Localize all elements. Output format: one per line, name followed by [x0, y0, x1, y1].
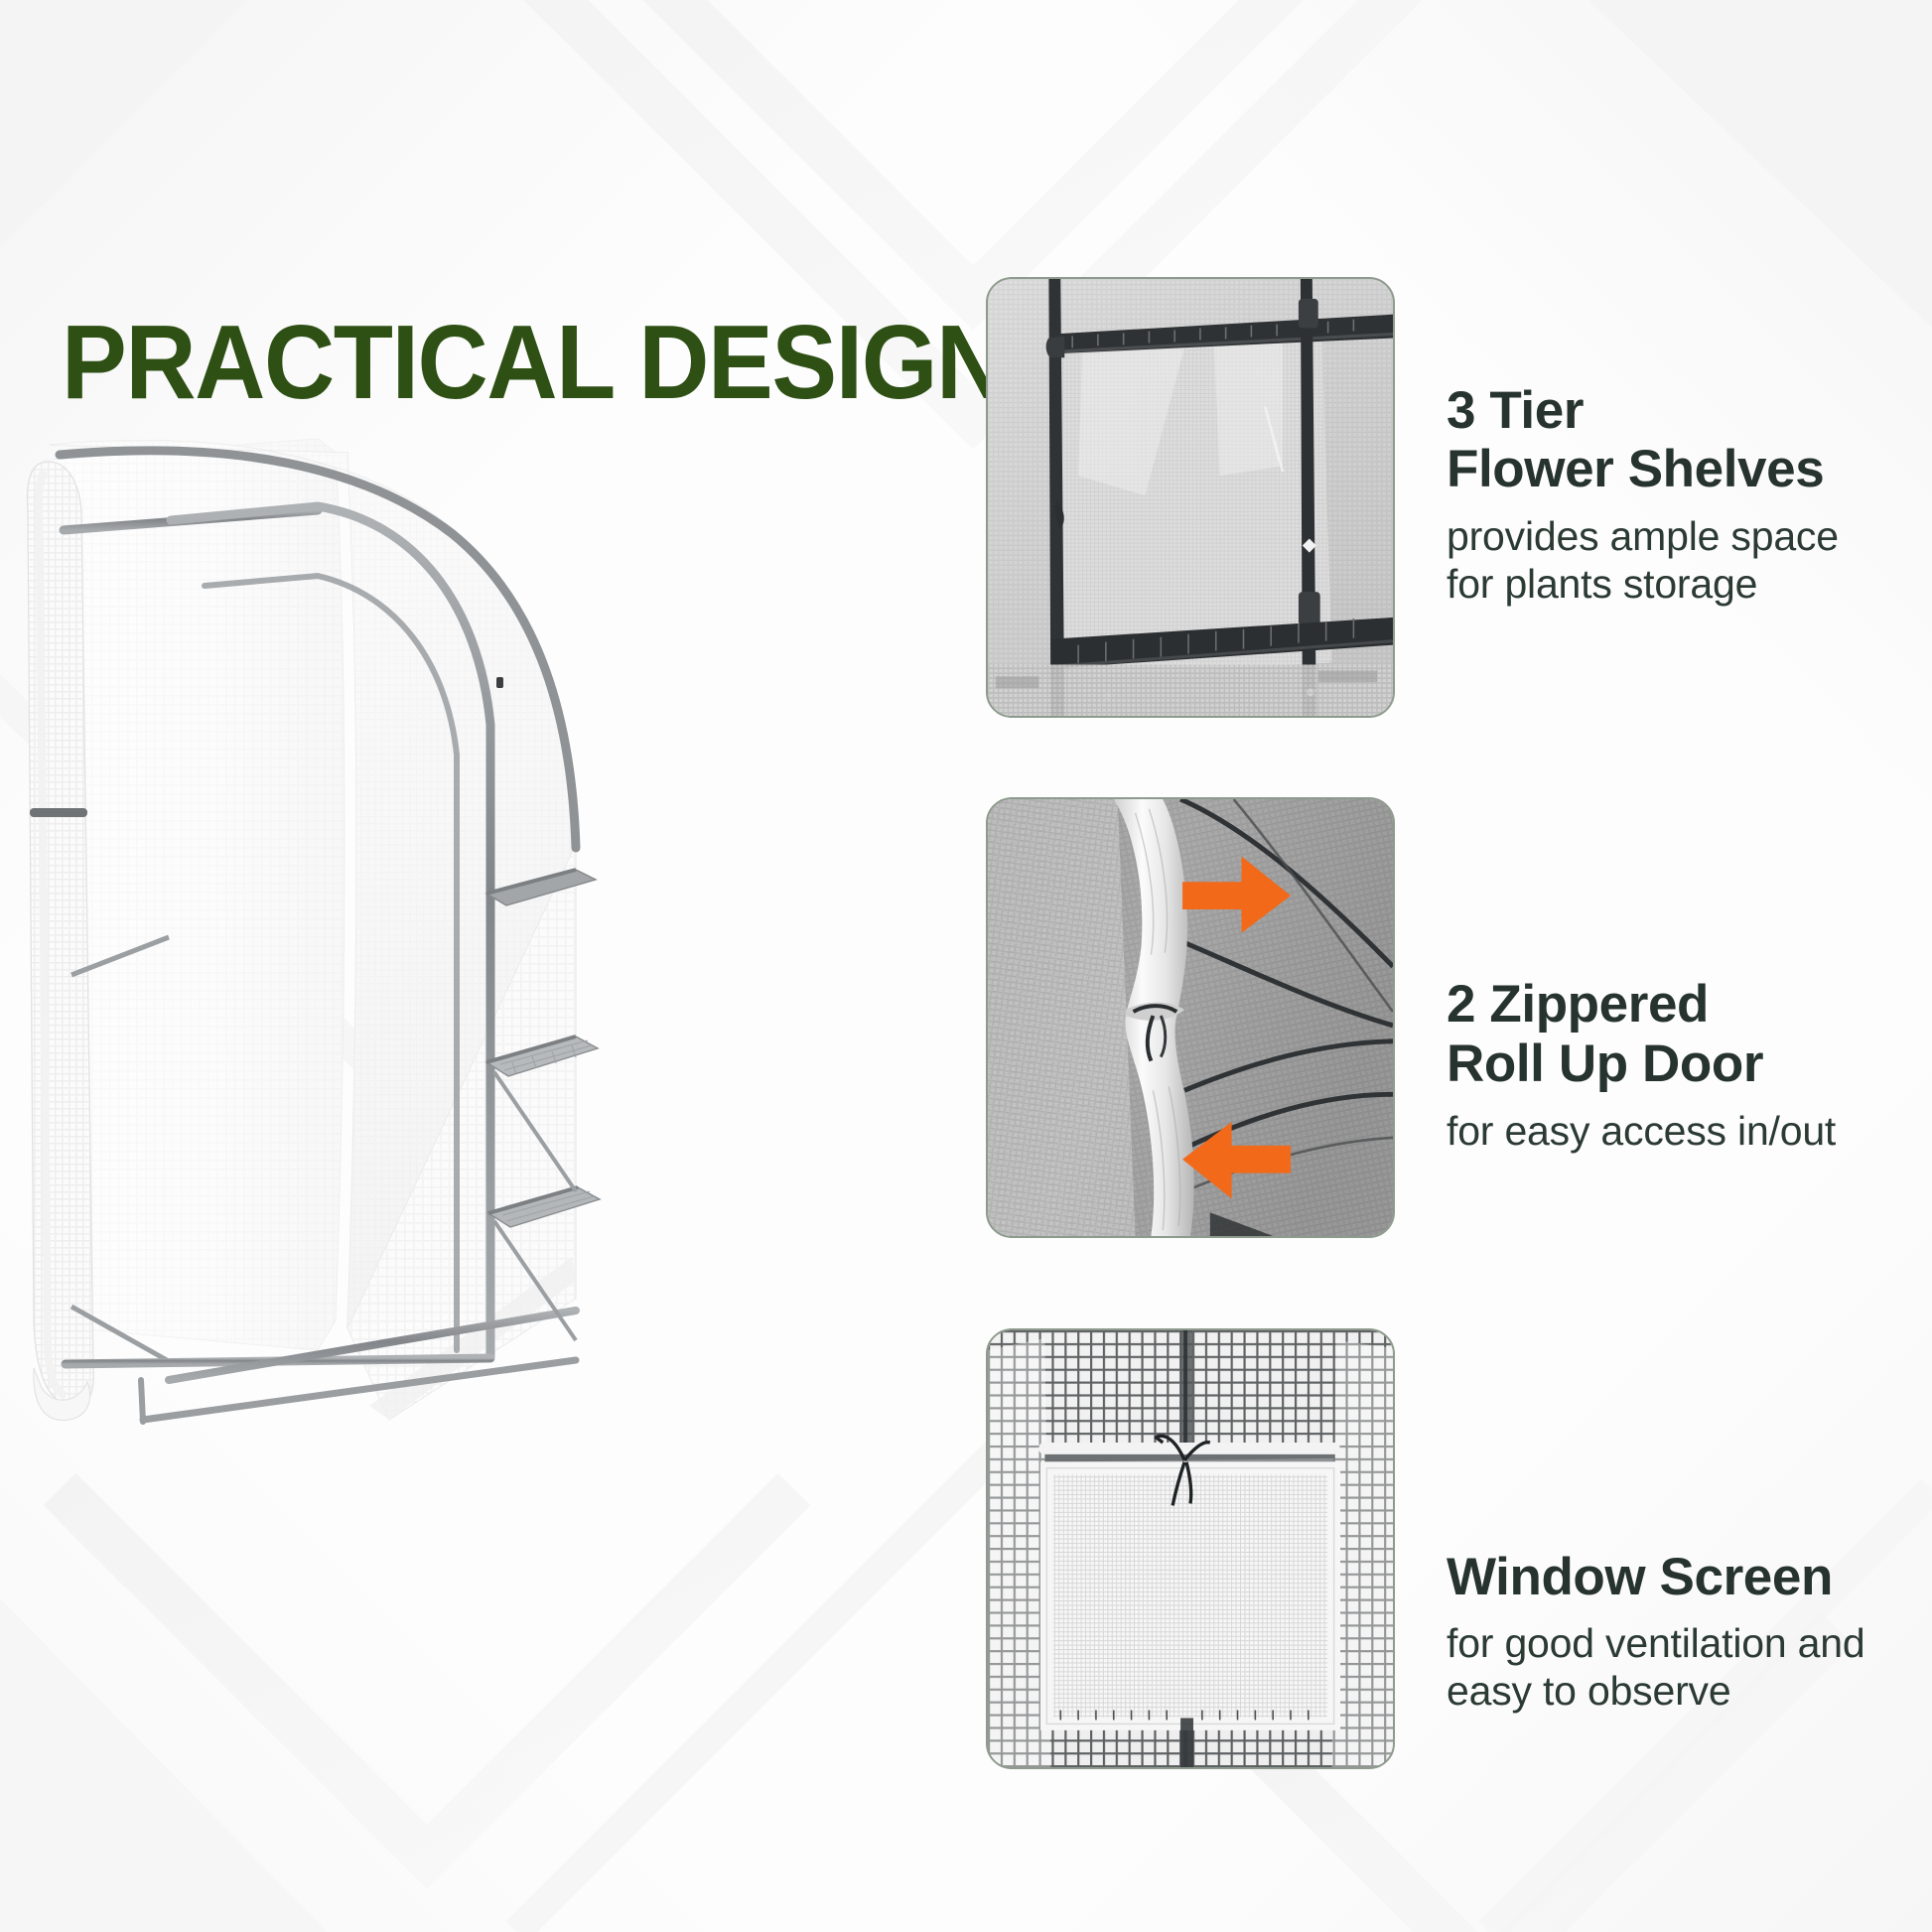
feature-subtitle-window-screen: for good ventilation and easy to observe — [1447, 1620, 1909, 1715]
feature-block-flower-shelves: 3 Tier Flower Shelves provides ample spa… — [986, 277, 1909, 718]
photo-window-screen-image — [988, 1330, 1393, 1767]
feature-title-roll-up-door: 2 Zippered Roll Up Door — [1447, 975, 1909, 1094]
photo-flower-shelves — [986, 277, 1395, 718]
photo-roll-up-door — [986, 797, 1395, 1238]
infographic-page: PRACTICAL DESIGN — [0, 0, 1932, 1932]
photo-flower-shelves-image — [988, 279, 1393, 716]
feature-block-roll-up-door: 2 Zippered Roll Up Door for easy access … — [986, 797, 1909, 1238]
feature-subtitle-roll-up-door: for easy access in/out — [1447, 1108, 1909, 1156]
photo-roll-up-door-image — [988, 799, 1393, 1236]
feature-text-roll-up-door: 2 Zippered Roll Up Door for easy access … — [1447, 975, 1909, 1155]
window-screen-panel — [1046, 1468, 1333, 1725]
frame-base-rail-foot — [143, 1360, 576, 1420]
zipper-pull-icon — [496, 677, 503, 688]
page-title: PRACTICAL DESIGN — [62, 310, 1006, 415]
feature-text-window-screen: Window Screen for good ventilation and e… — [1447, 1548, 1909, 1716]
feature-subtitle-flower-shelves: provides ample space for plants storage — [1447, 513, 1909, 608]
product-illustration — [20, 427, 804, 1430]
frame-foot-left — [141, 1380, 143, 1422]
feature-block-window-screen: Window Screen for good ventilation and e… — [986, 1328, 1909, 1769]
greenhouse-render — [20, 427, 804, 1430]
feature-text-flower-shelves: 3 Tier Flower Shelves provides ample spa… — [1447, 381, 1909, 609]
feature-title-flower-shelves: 3 Tier Flower Shelves — [1447, 381, 1909, 500]
photo-window-screen — [986, 1328, 1395, 1769]
feature-title-window-screen: Window Screen — [1447, 1548, 1909, 1607]
